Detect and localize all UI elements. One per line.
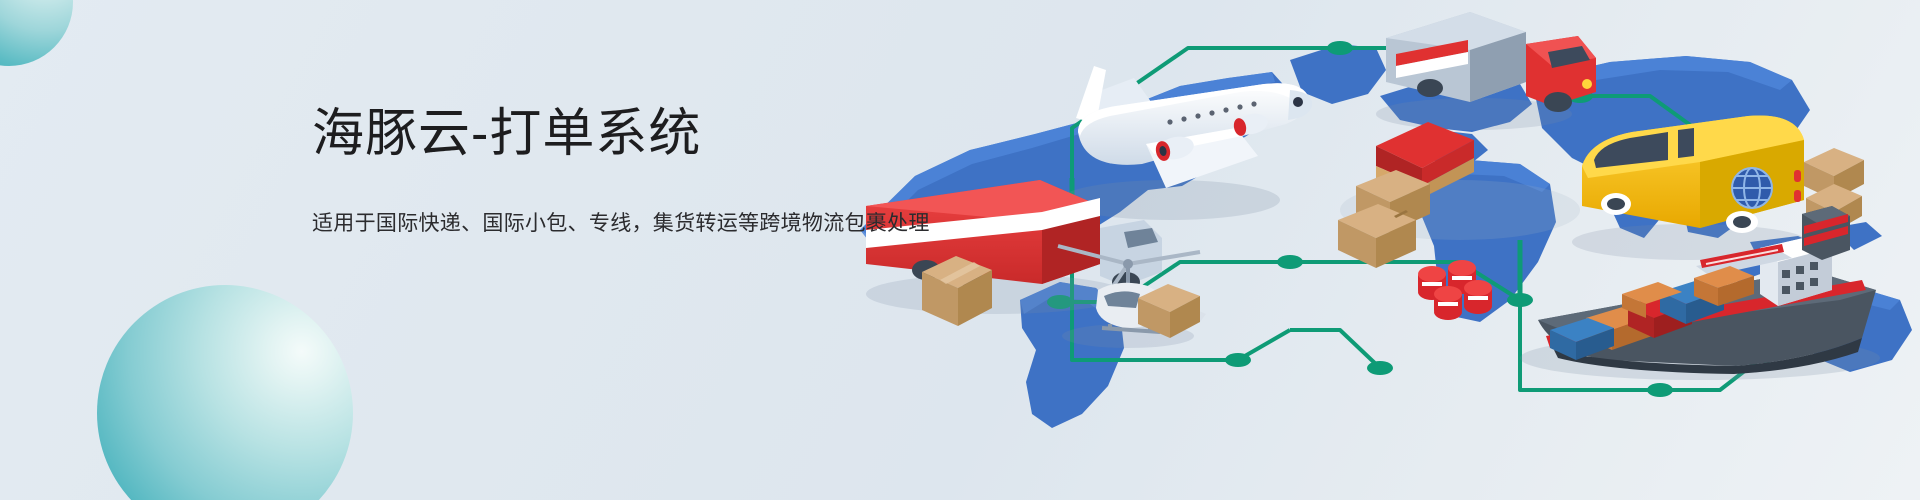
world-map-landmasses — [860, 44, 1912, 428]
cardboard-boxes-icon — [922, 256, 992, 326]
hero-banner: 海豚云-打单系统 适用于国际快递、国际小包、专线，集货转运等跨境物流包裹处理 — [0, 0, 1920, 500]
cardboard-boxes-icon — [1338, 170, 1430, 268]
red-barrels-icon — [1418, 260, 1492, 320]
banner-text-block: 海豚云-打单系统 适用于国际快递、国际小包、专线，集货转运等跨境物流包裹处理 — [312, 104, 930, 239]
container-ship-icon — [1520, 206, 1880, 380]
pallet-stack-icon — [1376, 122, 1474, 198]
logistics-network-nodes — [1047, 41, 1801, 397]
isometric-world-logistics-illustration — [820, 0, 1920, 500]
delivery-van-yellow-icon — [1572, 116, 1864, 261]
airplane-icon — [1060, 66, 1312, 220]
page-title: 海豚云-打单系统 — [312, 104, 930, 165]
page-subtitle: 适用于国际快递、国际小包、专线，集货转运等跨境物流包裹处理 — [312, 165, 930, 238]
shipping-containers-icon — [1550, 266, 1754, 360]
engine — [1232, 111, 1269, 137]
teal-gradient-circle-bottom-left — [97, 285, 353, 500]
cardboard-boxes-icon — [1138, 284, 1200, 338]
network-node-poles — [1072, 178, 1520, 300]
teal-gradient-circle-top-left — [0, 0, 73, 66]
engine — [1154, 133, 1196, 162]
delivery-truck-gray-icon — [1376, 12, 1596, 130]
cardboard-boxes-icon — [1804, 148, 1864, 232]
helicopter-icon — [1058, 246, 1206, 348]
logistics-network-routes — [1060, 48, 1788, 390]
